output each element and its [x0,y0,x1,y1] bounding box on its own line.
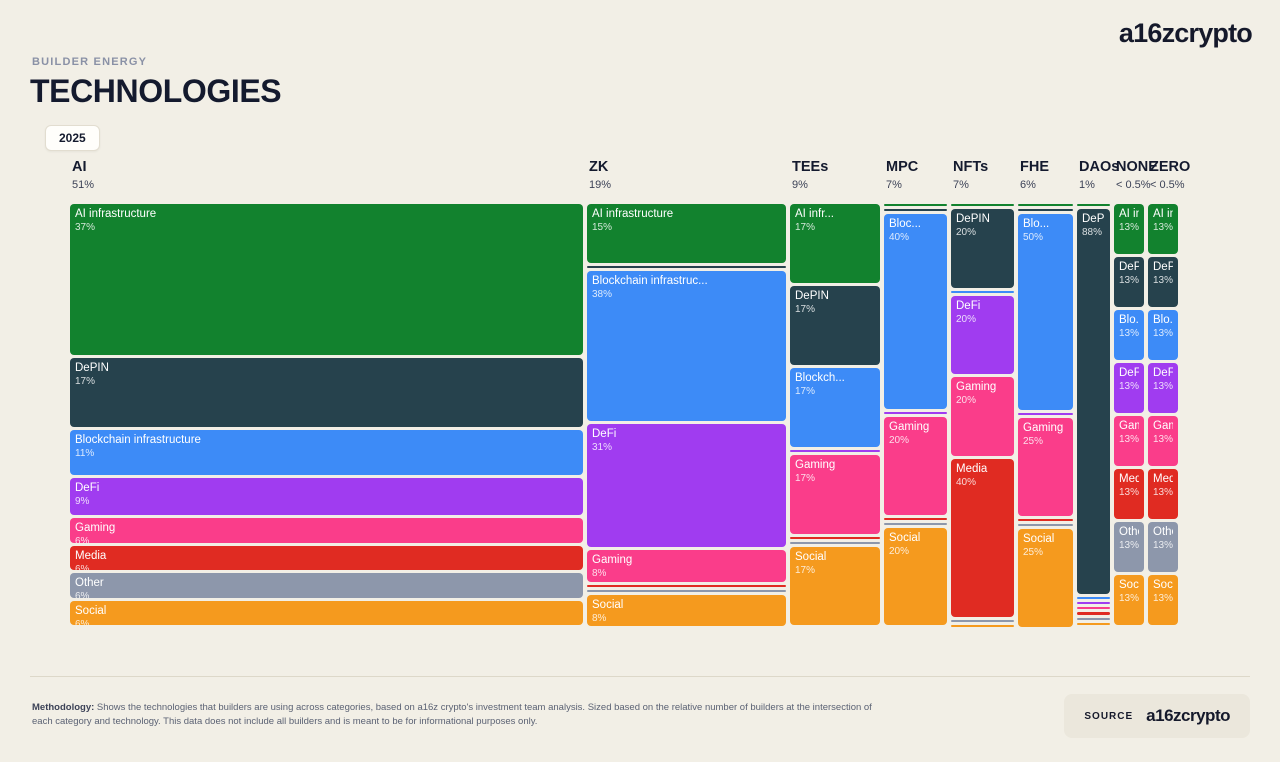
cell-label: Media [956,463,1009,476]
cell-percent: 9% [75,496,578,508]
treemap-cell-tees-depin[interactable]: DePIN17% [790,286,880,365]
cell-percent: 8% [592,568,781,580]
column-name: FHE [1020,160,1049,175]
cell-percent: 13% [1119,328,1139,340]
treemap-cell-mpc-gaming[interactable]: Gaming20% [884,417,947,515]
treemap-cell-none-blockchain-infrastructure[interactable]: Blo...13% [1114,310,1144,360]
cell-label: DeFi [592,428,781,441]
column-name: MPC [886,160,918,175]
cell-percent: 50% [1023,232,1068,244]
cell-percent: 20% [889,435,942,447]
cell-percent: 13% [1119,222,1139,234]
treemap-cell-none-defi[interactable]: DeFi13% [1114,363,1144,413]
treemap-cell-zk-defi[interactable]: DeFi31% [587,424,786,547]
treemap-cell-mpc-media[interactable]: Media< 0.5% [884,518,947,520]
column-header-nfts: NFTs7% [953,160,988,192]
cell-percent: 20% [889,546,942,558]
treemap-cell-daos-ai-infrastructure[interactable]: AI infr...< 0.5% [1077,204,1110,206]
treemap-cell-none-ai-infrastructure[interactable]: AI infr...13% [1114,204,1144,254]
cell-label: Gaming [1023,422,1068,435]
column-body: AI infrastructure37%DePIN17%Blockchain i… [70,204,583,625]
treemap-cell-zk-media[interactable]: Media< 0.5% [587,585,786,587]
cell-percent: 38% [592,289,781,301]
cell-label: Gaming [1153,420,1173,433]
treemap-cell-zk-social[interactable]: Social8% [587,595,786,627]
cell-label: Blockchain infrastructure [75,434,578,447]
treemap-cell-fhe-media[interactable]: Media< 0.5% [1018,519,1073,521]
cell-label: Gaming [1119,420,1139,433]
column-body: AI infr...< 0.5%DePIN20%Bloc...< 0.5%DeF… [951,204,1014,625]
column-header-fhe: FHE6% [1020,160,1049,192]
cell-label: DePIN [1082,213,1105,226]
treemap-cell-daos-media[interactable]: Media< 0.5% [1077,612,1110,614]
cell-label: Media [75,550,578,563]
methodology-label: Methodology: [32,702,94,713]
column-name: TEEs [792,160,828,175]
treemap-column-ai[interactable]: AI51%AI infrastructure37%DePIN17%Blockch… [70,160,583,625]
column-share: 6% [1020,178,1049,192]
cell-percent: 13% [1153,222,1173,234]
cell-percent: 6% [75,619,578,625]
cell-percent: 13% [1119,381,1139,393]
cell-percent: 17% [795,304,875,316]
column-name: AI [72,160,94,175]
treemap-cell-mpc-social[interactable]: Social20% [884,528,947,626]
column-header-ai: AI51% [72,160,94,192]
treemap-cell-tees-gaming[interactable]: Gaming17% [790,455,880,534]
treemap-cell-ai-depin[interactable]: DePIN17% [70,358,583,427]
cell-percent: 6% [75,564,578,570]
treemap-cell-fhe-social[interactable]: Social25% [1018,529,1073,627]
a16zcrypto-logo: a16zcrypto [1119,18,1252,49]
treemap-cell-zero-social[interactable]: Social13% [1148,575,1178,625]
cell-percent: 15% [592,222,781,234]
column-name: NFTs [953,160,988,175]
column-share: 7% [953,178,988,192]
treemap-cell-fhe-defi[interactable]: DeFi< 0.5% [1018,413,1073,415]
treemap-cell-fhe-depin[interactable]: DePIN< 0.5% [1018,209,1073,211]
treemap-column-zero[interactable]: ZERO< 0.5%AI infr...13%DePIN13%Blo...13%… [1148,160,1178,625]
treemap-cell-zero-media[interactable]: Media13% [1148,469,1178,519]
treemap-column-daos[interactable]: DAOs1%AI infr...< 0.5%DePIN88%Blo...< 0.… [1077,160,1110,625]
cell-label: Blo... [1153,314,1173,327]
cell-percent: 20% [956,314,1009,326]
column-header-zk: ZK19% [589,160,611,192]
cell-label: AI infrastructure [592,208,781,221]
cell-percent: 88% [1082,227,1105,239]
cell-label: Other [1119,526,1139,539]
treemap-cell-mpc-blockchain-infrastructure[interactable]: Bloc...40% [884,214,947,409]
treemap-column-none[interactable]: NONE< 0.5%AI infr...13%DePIN13%Blo...13%… [1114,160,1144,625]
cell-label: Media [1153,473,1173,486]
column-body: AI infrastructure15%DePIN< 0.5%Blockchai… [587,204,786,625]
column-body: AI infr...< 0.5%DePIN< 0.5%Bloc...40%DeF… [884,204,947,625]
cell-percent: 17% [75,376,578,388]
cell-label: DeFi [75,482,578,495]
treemap-cell-nfts-other[interactable]: Other< 0.5% [951,620,1014,622]
column-body: AI infr...< 0.5%DePIN88%Blo...< 0.5%DeFi… [1077,204,1110,625]
cell-percent: 8% [592,613,781,625]
cell-percent: 6% [75,536,578,542]
cell-label: Social [1023,533,1068,546]
cell-percent: 6% [75,591,578,597]
source-badge: SOURCE a16zcrypto [1064,694,1250,738]
cell-label: Social [795,551,875,564]
cell-percent: 13% [1153,328,1173,340]
cell-percent: 20% [956,227,1009,239]
cell-label: AI infr... [795,208,875,221]
treemap-cell-zk-depin[interactable]: DePIN< 0.5% [587,266,786,268]
treemap-cell-daos-gaming[interactable]: Gaming< 0.5% [1077,607,1110,609]
treemap-cell-zero-gaming[interactable]: Gaming13% [1148,416,1178,466]
treemap-cell-tees-social[interactable]: Social17% [790,547,880,626]
cell-label: Blo... [1119,314,1139,327]
treemap-cell-tees-blockchain-infrastructure[interactable]: Blockch...17% [790,368,880,447]
treemap-column-tees[interactable]: TEEs9%AI infr...17%DePIN17%Blockch...17%… [790,160,880,625]
cell-percent: 13% [1119,593,1139,605]
column-share: 51% [72,178,94,192]
footer-divider [30,676,1250,677]
treemap-cell-daos-defi[interactable]: DeFi< 0.5% [1077,602,1110,604]
cell-label: Social [1153,579,1173,592]
treemap-cell-none-depin[interactable]: DePIN13% [1114,257,1144,307]
treemap-cell-nfts-media[interactable]: Media40% [951,459,1014,616]
infographic-page: a16zcrypto BUILDER ENERGY TECHNOLOGIES 2… [0,0,1280,762]
eyebrow-label: BUILDER ENERGY [32,56,147,68]
cell-label: DeFi [1119,367,1139,380]
column-header-mpc: MPC7% [886,160,918,192]
treemap-cell-mpc-ai-infrastructure[interactable]: AI infr...< 0.5% [884,204,947,206]
column-body: AI infr...17%DePIN17%Blockch...17%DeFi< … [790,204,880,625]
cell-label: DePIN [956,213,1009,226]
treemap-cell-zero-blockchain-infrastructure[interactable]: Blo...13% [1148,310,1178,360]
methodology-text: Shows the technologies that builders are… [32,702,872,727]
column-name: ZK [589,160,611,175]
cell-label: Gaming [956,381,1009,394]
cell-percent: 13% [1153,487,1173,499]
treemap-cell-none-gaming[interactable]: Gaming13% [1114,416,1144,466]
cell-percent: 40% [956,477,1009,489]
treemap-cell-fhe-gaming[interactable]: Gaming25% [1018,418,1073,516]
cell-label: Gaming [795,459,875,472]
year-filter-chip[interactable]: 2025 [45,125,100,151]
source-logo: a16zcrypto [1146,706,1230,726]
cell-percent: 13% [1119,487,1139,499]
cell-percent: 17% [795,473,875,485]
treemap-cell-ai-blockchain-infrastructure[interactable]: Blockchain infrastructure11% [70,430,583,475]
cell-percent: 13% [1153,540,1173,552]
treemap-cell-nfts-defi[interactable]: DeFi20% [951,296,1014,375]
cell-label: Social [75,605,578,618]
treemap-column-mpc[interactable]: MPC7%AI infr...< 0.5%DePIN< 0.5%Bloc...4… [884,160,947,625]
cell-percent: 17% [795,565,875,577]
source-label: SOURCE [1084,711,1133,722]
cell-label: Gaming [592,554,781,567]
treemap-cell-nfts-depin[interactable]: DePIN20% [951,209,1014,288]
treemap-cell-fhe-ai-infrastructure[interactable]: AI infr...< 0.5% [1018,204,1073,206]
cell-label: Gaming [75,522,578,535]
cell-label: Media [1119,473,1139,486]
cell-label: Social [1119,579,1139,592]
cell-label: DePIN [795,290,875,303]
treemap-cell-zk-blockchain-infrastructure[interactable]: Blockchain infrastruc...38% [587,271,786,421]
column-share: < 0.5% [1150,178,1190,192]
column-share: 9% [792,178,828,192]
treemap-column-zk[interactable]: ZK19%AI infrastructure15%DePIN< 0.5%Bloc… [587,160,786,625]
cell-percent: 17% [795,222,875,234]
treemap-cell-none-other[interactable]: Other13% [1114,522,1144,572]
cell-percent: 13% [1153,275,1173,287]
treemap-cell-zk-ai-infrastructure[interactable]: AI infrastructure15% [587,204,786,263]
cell-label: Other [75,577,578,590]
cell-label: Blockchain infrastruc... [592,275,781,288]
cell-label: Social [592,599,781,612]
treemap-cell-none-social[interactable]: Social13% [1114,575,1144,625]
treemap-cell-daos-other[interactable]: Other< 0.5% [1077,618,1110,620]
cell-label: Social [889,532,942,545]
treemap-cell-mpc-depin[interactable]: DePIN< 0.5% [884,209,947,211]
cell-label: Blockch... [795,372,875,385]
cell-percent: 13% [1153,434,1173,446]
treemap-cell-tees-defi[interactable]: DeFi< 0.5% [790,450,880,452]
cell-label: DePIN [75,362,578,375]
treemap-cell-zero-depin[interactable]: DePIN13% [1148,257,1178,307]
cell-percent: 20% [956,395,1009,407]
column-header-tees: TEEs9% [792,160,828,192]
treemap-cell-tees-media[interactable]: Media< 0.5% [790,537,880,539]
treemap-cell-nfts-ai-infrastructure[interactable]: AI infr...< 0.5% [951,204,1014,206]
treemap-cell-tees-other[interactable]: Other< 0.5% [790,542,880,544]
cell-percent: 25% [1023,547,1068,559]
cell-percent: 37% [75,222,578,234]
treemap-column-fhe[interactable]: FHE6%AI infr...< 0.5%DePIN< 0.5%Blo...50… [1018,160,1073,625]
column-share: 19% [589,178,611,192]
treemap-cell-nfts-blockchain-infrastructure[interactable]: Bloc...< 0.5% [951,291,1014,293]
cell-label: AI infrastructure [75,208,578,221]
treemap-cell-zk-gaming[interactable]: Gaming8% [587,550,786,582]
cell-label: Blo... [1023,218,1068,231]
cell-label: AI infr... [1153,208,1173,221]
cell-percent: 13% [1119,540,1139,552]
technologies-treemap: AI51%AI infrastructure37%DePIN17%Blockch… [70,160,1210,625]
cell-percent: 40% [889,232,942,244]
cell-label: DeFi [956,300,1009,313]
cell-percent: 31% [592,442,781,454]
treemap-cell-ai-media[interactable]: Media6% [70,546,583,570]
column-name: ZERO [1150,160,1190,175]
column-body: AI infr...13%DePIN13%Blo...13%DeFi13%Gam… [1148,204,1178,625]
treemap-cell-fhe-blockchain-infrastructure[interactable]: Blo...50% [1018,214,1073,410]
treemap-cell-none-media[interactable]: Media13% [1114,469,1144,519]
cell-label: AI infr... [1119,208,1139,221]
treemap-cell-ai-other[interactable]: Other6% [70,573,583,597]
treemap-cell-mpc-other[interactable]: Other< 0.5% [884,523,947,525]
treemap-column-nfts[interactable]: NFTs7%AI infr...< 0.5%DePIN20%Bloc...< 0… [951,160,1014,625]
treemap-cell-zero-defi[interactable]: DeFi13% [1148,363,1178,413]
treemap-cell-nfts-gaming[interactable]: Gaming20% [951,377,1014,456]
cell-label: Other [1153,526,1173,539]
cell-percent: 13% [1153,593,1173,605]
treemap-cell-zero-ai-infrastructure[interactable]: AI infr...13% [1148,204,1178,254]
treemap-cell-ai-gaming[interactable]: Gaming6% [70,518,583,542]
treemap-cell-zk-other[interactable]: Other< 0.5% [587,590,786,592]
treemap-cell-mpc-defi[interactable]: DeFi< 0.5% [884,412,947,414]
column-body: AI infr...13%DePIN13%Blo...13%DeFi13%Gam… [1114,204,1144,625]
cell-label: DePIN [1153,261,1173,274]
column-body: AI infr...< 0.5%DePIN< 0.5%Blo...50%DeFi… [1018,204,1073,625]
cell-percent: 13% [1119,275,1139,287]
treemap-cell-daos-social[interactable]: Social< 0.5% [1077,623,1110,625]
column-header-zero: ZERO< 0.5% [1150,160,1190,192]
cell-percent: 13% [1119,434,1139,446]
page-title: TECHNOLOGIES [30,73,281,110]
treemap-cell-daos-depin[interactable]: DePIN88% [1077,209,1110,594]
cell-label: Bloc... [889,218,942,231]
treemap-cell-zero-other[interactable]: Other13% [1148,522,1178,572]
methodology-note: Methodology: Shows the technologies that… [32,701,882,729]
treemap-cell-ai-ai-infrastructure[interactable]: AI infrastructure37% [70,204,583,355]
cell-label: Gaming [889,421,942,434]
cell-percent: 25% [1023,436,1068,448]
treemap-cell-fhe-other[interactable]: Other< 0.5% [1018,524,1073,526]
cell-percent: 17% [795,386,875,398]
treemap-cell-ai-defi[interactable]: DeFi9% [70,478,583,515]
cell-label: DePIN [1119,261,1139,274]
column-share: 7% [886,178,918,192]
treemap-cell-daos-blockchain-infrastructure[interactable]: Blo...< 0.5% [1077,597,1110,599]
treemap-cell-tees-ai-infrastructure[interactable]: AI infr...17% [790,204,880,283]
treemap-cell-nfts-social[interactable]: Social< 0.5% [951,625,1014,627]
cell-percent: 13% [1153,381,1173,393]
cell-percent: 11% [75,448,578,460]
treemap-cell-ai-social[interactable]: Social6% [70,601,583,625]
cell-label: DeFi [1153,367,1173,380]
